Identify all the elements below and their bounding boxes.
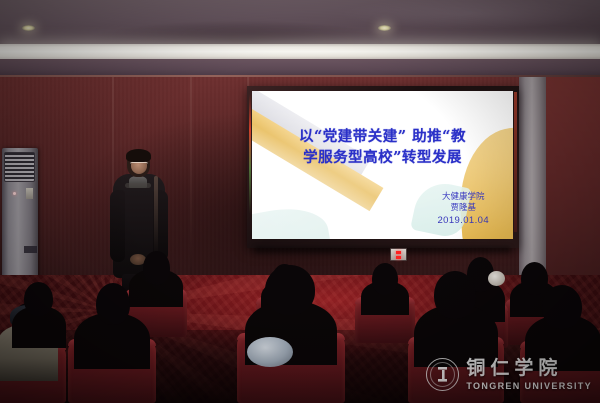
wall-control-panel[interactable] [390, 248, 407, 261]
slide-title-line-2: 学服务型高校”转型发展 [260, 147, 505, 168]
air-conditioner-badge [26, 188, 33, 199]
control-panel-led [396, 251, 401, 254]
ceiling-slab [0, 0, 600, 46]
audience-member [10, 278, 68, 348]
audience-member [237, 263, 345, 403]
presenter-rim-light [154, 176, 158, 256]
ceiling-downlight [22, 25, 35, 31]
slide-date: 2019.01.04 [437, 215, 489, 227]
presenter-scarf [125, 183, 151, 188]
audience-head [96, 283, 130, 325]
projection-screen-frame: 以“党建带关建” 助推“教 学服务型高校”转型发展 大健康学院 贾隆基 2019… [247, 86, 519, 248]
presenter-hair [126, 149, 151, 162]
structural-column [519, 77, 546, 282]
audience-member [355, 263, 415, 343]
audience-member [68, 277, 156, 403]
slide-title: 以“党建带关建” 助推“教 学服务型高校”转型发展 [252, 126, 513, 168]
control-panel-led [396, 256, 401, 259]
slide-metadata: 大健康学院 贾隆基 2019.01.04 [437, 192, 489, 227]
slide-decor-mint-shape [252, 202, 331, 239]
audience-fur-collar [247, 337, 293, 367]
slide-organization: 大健康学院 [437, 192, 489, 204]
watermark-text: 铜仁学院 TONGREN UNIVERSITY [466, 359, 592, 391]
air-conditioner-power-led [13, 192, 16, 195]
slide-title-line-1: 以“党建带关建” 助推“教 [299, 128, 466, 145]
watermark: 铜仁学院 TONGREN UNIVERSITY [426, 358, 592, 391]
seal-inner-glyph [438, 367, 447, 382]
slide-presenter-name: 贾隆基 [437, 203, 489, 215]
audience-head [542, 285, 582, 329]
audience-head [434, 271, 476, 319]
university-seal-icon [426, 358, 459, 391]
presenter-left-arm [110, 190, 125, 262]
ceiling-downlight [378, 25, 391, 31]
screen-drop-shadow [255, 247, 510, 256]
wall-panel-seam [190, 77, 192, 277]
audience-head [372, 263, 398, 295]
air-conditioner-vent [24, 246, 37, 253]
air-conditioner-grille-icon [4, 152, 35, 182]
presentation-slide: 以“党建带关建” 助推“教 学服务型高校”转型发展 大健康学院 贾隆基 2019… [252, 91, 513, 239]
air-conditioner-unit[interactable] [2, 148, 38, 288]
lecture-hall-photo: 以“党建带关建” 助推“教 学服务型高校”转型发展 大健康学院 贾隆基 2019… [0, 0, 600, 403]
glasses-icon [130, 162, 148, 166]
audience-head [24, 282, 53, 316]
watermark-name-cn: 铜仁学院 [466, 359, 592, 378]
right-wall-panel [546, 77, 600, 282]
watermark-name-en: TONGREN UNIVERSITY [466, 382, 592, 391]
audience-head [265, 265, 315, 315]
